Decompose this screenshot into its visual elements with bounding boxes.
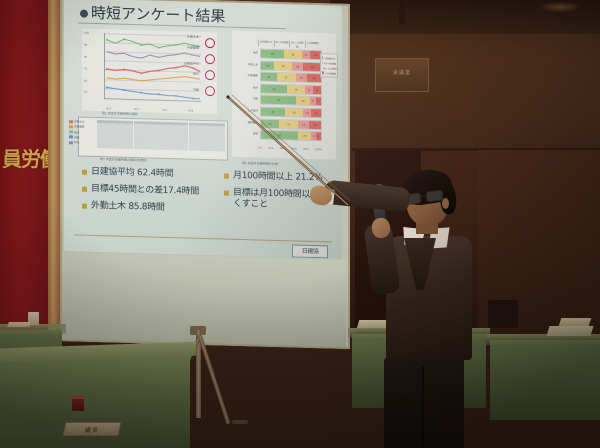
- bar-segment: 58: [261, 96, 296, 105]
- presenter-ear: [442, 198, 449, 209]
- line-series-label-2: 日建協平均: [184, 61, 199, 65]
- bar-col-0: 45時間以下: [258, 39, 274, 46]
- bar-row-bar: 582499: [260, 95, 322, 107]
- table-cell: [106, 145, 115, 148]
- bullet-item: 目標45時間との差17.4時間: [82, 184, 218, 199]
- legend-label-2: 設計: [74, 130, 79, 134]
- bar-row-bar: 38301418: [260, 49, 322, 61]
- bar-axis-tick-3: 60%: [292, 147, 297, 153]
- bar-segment: 44: [261, 84, 287, 93]
- ceiling-mount-pole: [399, 0, 405, 24]
- hanging-room-sign: 会議室: [375, 58, 429, 92]
- bar-row-bar: 26321824: [260, 72, 322, 84]
- bar-chart-legend: 45時間以下45〜80時間80〜100時間100時間超: [320, 53, 338, 78]
- bar-segment: 30: [287, 85, 305, 94]
- projection-screen: 時短アンケート結果: [60, 0, 350, 349]
- y-tick-1: 90: [84, 44, 87, 47]
- bar-segment: 20: [309, 120, 321, 128]
- bullet-text-left-2: 外勤土木 85.8時間: [91, 201, 165, 214]
- legend-label-0: 外勤土木: [74, 120, 84, 124]
- bullet-text-right-0: 月100時間以上 21.2%: [233, 171, 322, 184]
- nameplate-text: 議長: [64, 425, 120, 434]
- bar-row-label: 内勤: [234, 94, 260, 105]
- ceiling-light: [540, 2, 580, 12]
- table-cell: [207, 147, 216, 150]
- bar-legend-swatch: [322, 61, 323, 64]
- legend-label-4: 平均: [74, 140, 79, 144]
- papers-right-2: [559, 318, 592, 326]
- square-bullet-icon: [82, 204, 87, 209]
- bar-row-label: 外勤土木: [234, 59, 260, 70]
- bar-legend-row: 100時間超: [322, 70, 336, 75]
- bar-segment: 62: [261, 131, 298, 140]
- bar-chart-row: 設計44301214: [234, 83, 322, 95]
- table-cell: [143, 146, 152, 149]
- papers-back-left: [7, 322, 31, 327]
- line-chart-plot: 外勤土木 外勤建築 日建協平均 設計 内勤: [104, 33, 201, 102]
- series-marker-circle-1: [205, 54, 215, 64]
- y-tick-2: 80: [84, 56, 87, 59]
- bar-row-label: 事務: [234, 129, 260, 140]
- square-bullet-icon: [224, 174, 229, 179]
- table-cell: [170, 146, 179, 149]
- bar-chart-caption: 図2 所定外労働時間の分布: [242, 161, 278, 166]
- bar-chart-row: 土木設計40301416: [234, 106, 322, 118]
- bullet-item: 日建協平均 62.4時間: [82, 167, 218, 182]
- bar-row-bar: 22301830: [260, 60, 322, 72]
- bar-segment: 30: [284, 50, 302, 59]
- square-bullet-icon: [82, 170, 87, 175]
- bar-axis-tick-1: 20%: [268, 147, 273, 153]
- thermos-cup-lid: [72, 396, 84, 399]
- series-marker-circle-3: [205, 86, 215, 96]
- x-tick-8: H21: [162, 109, 167, 112]
- bar-segment: 14: [302, 51, 310, 59]
- line-chart: 外勤土木 外勤建築 日建協平均 設計 内勤 100 90 80 70 60 50…: [82, 29, 217, 115]
- bullet-text-left-0: 日建協平均 62.4時間: [91, 167, 173, 180]
- screen-stand-foot-left: [232, 420, 248, 424]
- circle-bullet-icon: [80, 9, 88, 17]
- bar-legend-label: 80〜100時間: [323, 66, 337, 70]
- bar-segment: 30: [285, 108, 303, 117]
- bar-chart-row: 内勤582499: [234, 94, 322, 106]
- bar-legend-label: 100時間超: [325, 71, 336, 75]
- bar-row-label: 全体: [234, 48, 260, 59]
- legend-label-3: 内勤: [74, 135, 79, 139]
- screen-stand-leg-right: [198, 335, 230, 424]
- legend-label-1: 外勤建築: [74, 125, 84, 129]
- bar-row-bar: 44301214: [260, 83, 322, 95]
- bar-segment: 30: [261, 119, 279, 128]
- legend-swatch-1: [69, 125, 73, 128]
- line-series-label-3: 設計: [193, 72, 199, 76]
- bar-chart-axis: 0% 20% 40% 60% 80% 100%: [258, 146, 322, 154]
- bar-segment: 18: [298, 120, 309, 128]
- slide-logo: 日建協: [292, 244, 328, 258]
- bar-segment: 38: [261, 50, 284, 59]
- table-cell: [124, 145, 133, 148]
- bar-segment: 14: [313, 86, 321, 94]
- presentation-photo-scene: 会議室 員労働 時短アンケート結果: [0, 0, 600, 448]
- bar-chart-row: 事務622288: [234, 129, 322, 141]
- bar-segment: 18: [292, 62, 303, 70]
- table-cell: [152, 146, 161, 149]
- presenter: [330, 160, 510, 448]
- y-tick-0: 100: [84, 32, 89, 35]
- legend-swatch-2: [69, 130, 73, 133]
- legend-row-4: 平均: [69, 140, 95, 145]
- bar-segment: 32: [277, 73, 296, 82]
- bar-segment: 9: [316, 97, 321, 105]
- series-marker-circle-0: [205, 38, 215, 48]
- bar-row-label: 外勤建築: [234, 71, 260, 82]
- bar-chart-row: 外勤土木22301830: [234, 59, 322, 71]
- bar-segment: 16: [311, 109, 321, 117]
- presenter-pointing-arm: [323, 180, 411, 213]
- bar-axis-tick-0: 0%: [258, 146, 262, 152]
- bar-segment: 14: [303, 109, 311, 117]
- bar-chart-rows: 全体38301418外勤土木22301830外勤建築26321824設計4430…: [234, 48, 322, 147]
- bar-segment: 32: [279, 120, 298, 129]
- line-chart-series-svg: [105, 33, 201, 101]
- bar-segment: 24: [296, 97, 310, 105]
- line-series-label-4: 内勤: [193, 88, 199, 92]
- line-series-label-1: 外勤建築: [187, 46, 199, 50]
- series-marker-circle-2: [205, 70, 215, 80]
- bar-row-label: 土木設計: [234, 106, 260, 117]
- table-cell: [161, 146, 170, 149]
- thermos-cup: [72, 396, 84, 411]
- square-bullet-icon: [82, 187, 87, 192]
- bar-row-bar: 30321820: [260, 118, 322, 130]
- bar-row-bar: 622288: [260, 130, 322, 142]
- bar-segment: 22: [298, 132, 311, 140]
- stacked-bar-chart: 45時間以下 45〜80時間 80〜100時間 100時間超 全体3830141…: [232, 31, 336, 160]
- bar-chart-row: 建築設計30321820: [234, 117, 322, 129]
- projected-slide: 時短アンケート結果: [64, 0, 342, 259]
- legend-swatch-3: [69, 136, 73, 139]
- table-cell: [134, 145, 143, 148]
- bullet-text-left-1: 目標45時間との差17.4時間: [91, 184, 199, 198]
- line-series-label-0: 外勤土木: [187, 34, 199, 38]
- x-tick-11: H24: [188, 110, 193, 113]
- presenter-legs: [384, 356, 464, 448]
- nameplate: 議長: [63, 422, 122, 436]
- slide-bullets: 日建協平均 62.4時間 目標45時間との差17.4時間 外勤土木 85.8時間: [76, 166, 338, 235]
- bar-legend-label: 45時間以下: [324, 56, 336, 60]
- bar-segment: 18: [296, 74, 307, 82]
- table-cell: [179, 147, 188, 150]
- bar-legend-label: 45〜80時間: [324, 61, 336, 65]
- slide-title: 時短アンケート結果: [91, 4, 225, 26]
- bar-row-label: 建築設計: [234, 117, 260, 128]
- papers-right: [546, 326, 593, 336]
- table-cell: [97, 144, 106, 147]
- data-table-legend: 外勤土木 外勤建築 設計 内勤: [69, 119, 95, 154]
- bar-segment: 24: [307, 74, 321, 82]
- data-table: 外勤土木 外勤建築 設計 内勤: [78, 116, 228, 160]
- x-tick-4: H17: [134, 108, 139, 111]
- bar-segment: 30: [274, 62, 292, 71]
- bar-col-2: 80〜100時間: [289, 40, 305, 47]
- venue-banner: 員労働: [0, 0, 48, 332]
- bar-row-label: 設計: [234, 83, 260, 94]
- table-cell: [198, 147, 207, 150]
- bar-legend-swatch: [322, 56, 323, 59]
- bar-chart-row: 外勤建築26321824: [234, 71, 322, 83]
- table-cell: [115, 145, 124, 148]
- bar-axis-tick-2: 40%: [280, 147, 285, 153]
- bar-legend-row: 80〜100時間: [322, 65, 336, 70]
- square-bullet-icon: [224, 191, 229, 196]
- bar-segment: 30: [303, 62, 321, 71]
- bar-axis-tick-4: 80%: [303, 148, 308, 154]
- data-table-grid: [97, 120, 225, 158]
- legend-swatch-4: [69, 141, 73, 144]
- bar-chart-row: 全体38301418: [234, 48, 322, 60]
- bar-segment: 12: [305, 86, 312, 94]
- bar-chart-header: 45時間以下 45〜80時間 80〜100時間 100時間超: [258, 39, 320, 48]
- legend-swatch-0: [69, 120, 73, 123]
- bar-legend-swatch: [322, 71, 324, 74]
- table-cell: [189, 147, 198, 150]
- bar-col-1: 45〜80時間: [274, 40, 290, 47]
- bar-segment: 40: [261, 108, 285, 117]
- y-tick-4: 60: [84, 80, 87, 83]
- bullet-item: 月100時間以上 21.2%: [224, 171, 342, 185]
- bar-col-3: 100時間超: [305, 41, 321, 48]
- table-cell: [216, 148, 225, 151]
- bar-axis-tick-5: 100%: [315, 148, 322, 154]
- venue-banner-text: 員労働: [2, 148, 48, 192]
- bar-segment: 22: [261, 61, 274, 69]
- bullet-column-left: 日建協平均 62.4時間 目標45時間との差17.4時間 外勤土木 85.8時間: [82, 167, 218, 222]
- hanging-room-sign-label: 会議室: [376, 69, 428, 76]
- presenter-leg-split: [422, 366, 424, 448]
- bar-segment: 26: [261, 73, 277, 81]
- x-tick-0: H13: [106, 107, 111, 110]
- glasses-lens-right: [425, 190, 443, 203]
- y-tick-5: 50: [84, 91, 87, 94]
- y-tick-3: 70: [84, 68, 87, 71]
- bullet-item: 外勤土木 85.8時間: [82, 201, 218, 216]
- bar-segment: 8: [316, 132, 321, 140]
- bar-row-bar: 40301416: [260, 107, 322, 119]
